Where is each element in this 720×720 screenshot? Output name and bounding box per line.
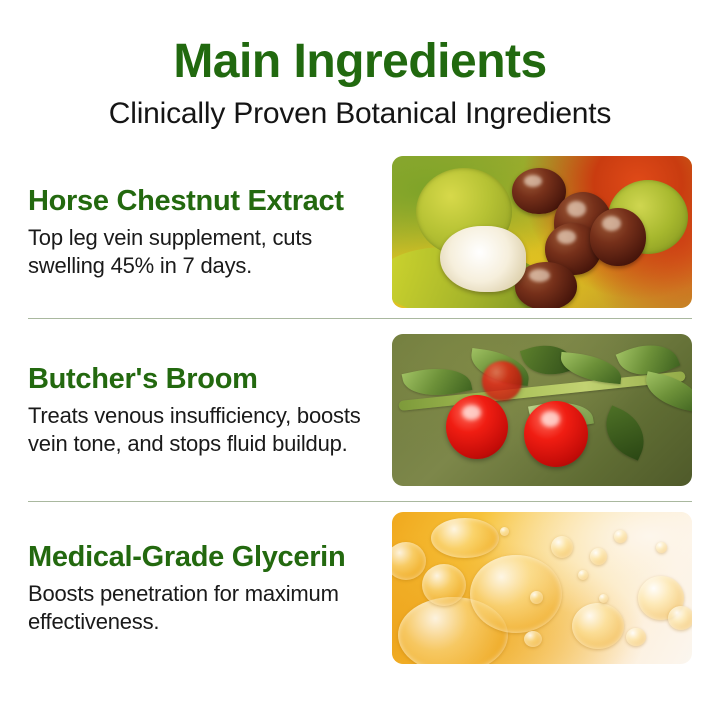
ingredient-text-block: Medical-Grade Glycerin Boosts penetratio…	[28, 540, 368, 636]
list-item: Butcher's Broom Treats venous insufficie…	[28, 319, 692, 501]
row-divider	[28, 318, 692, 319]
highlight	[557, 230, 576, 244]
ingredient-text-block: Horse Chestnut Extract Top leg vein supp…	[28, 184, 368, 280]
red-berry	[446, 395, 508, 459]
page-header: Main Ingredients Clinically Proven Botan…	[0, 0, 720, 132]
page-title: Main Ingredients	[0, 34, 720, 90]
highlight	[524, 175, 542, 187]
oil-bubble	[599, 594, 608, 603]
oil-bubble	[578, 570, 588, 580]
list-item: Horse Chestnut Extract Top leg vein supp…	[28, 146, 692, 318]
horse-chestnut-image	[392, 156, 692, 308]
ingredient-list: Horse Chestnut Extract Top leg vein supp…	[0, 146, 720, 674]
oil-bubble	[626, 628, 646, 646]
highlight	[462, 405, 481, 420]
row-divider	[28, 501, 692, 502]
ingredients-infographic: Main Ingredients Clinically Proven Botan…	[0, 0, 720, 720]
ingredient-name: Horse Chestnut Extract	[28, 184, 368, 218]
oil-bubble	[530, 591, 543, 604]
oil-bubble	[572, 603, 624, 649]
list-item: Medical-Grade Glycerin Boosts penetratio…	[28, 502, 692, 674]
highlight	[529, 269, 550, 281]
page-subtitle: Clinically Proven Botanical Ingredients	[0, 96, 720, 132]
ingredient-name: Butcher's Broom	[28, 362, 368, 396]
red-berry	[524, 401, 588, 467]
oil-bubble	[668, 606, 692, 630]
ingredient-name: Medical-Grade Glycerin	[28, 540, 368, 574]
ingredient-description: Top leg vein supplement, cuts swelling 4…	[28, 224, 368, 280]
oil-bubble	[431, 518, 499, 558]
ingredient-description: Boosts penetration for maximum effective…	[28, 580, 368, 636]
glycerin-image	[392, 512, 692, 664]
chestnut-nut	[590, 208, 646, 266]
ingredient-description: Treats venous insufficiency, boosts vein…	[28, 402, 368, 458]
oil-bubble	[470, 555, 562, 633]
chestnut-kernel	[440, 226, 526, 292]
butchers-broom-image	[392, 334, 692, 486]
ingredient-text-block: Butcher's Broom Treats venous insufficie…	[28, 362, 368, 458]
highlight	[602, 216, 621, 231]
highlight	[541, 411, 560, 427]
oil-bubble	[524, 631, 542, 647]
oil-bubble	[422, 564, 466, 606]
highlight	[567, 201, 587, 217]
